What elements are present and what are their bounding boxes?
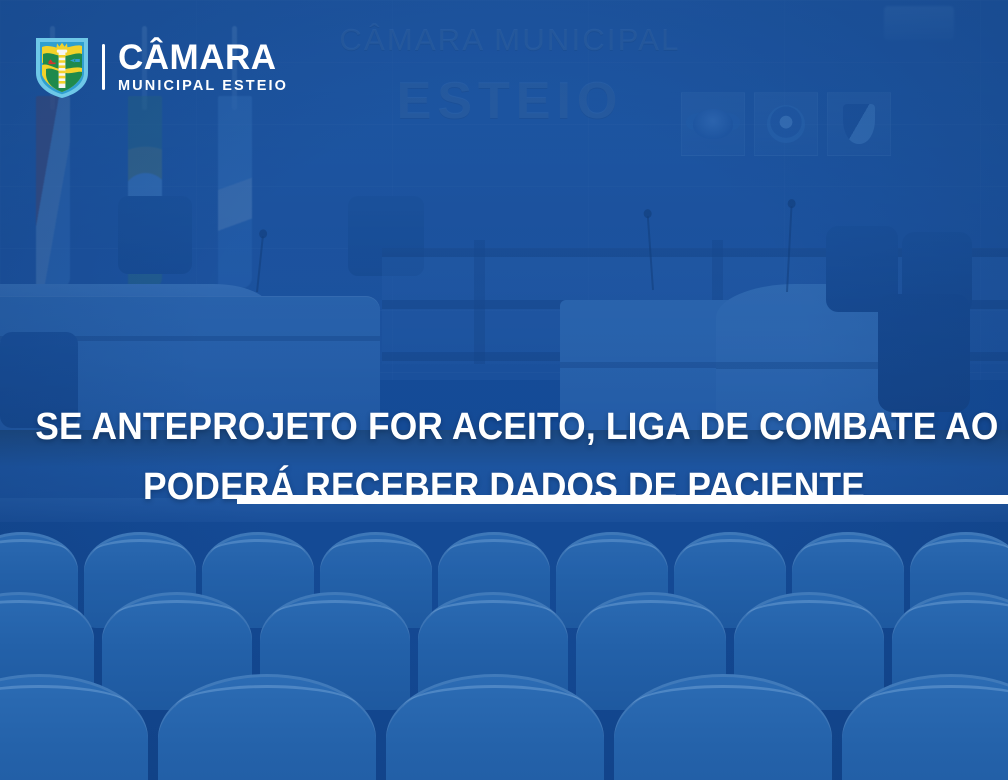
esteio-coat-of-arms-shield-icon [34, 35, 90, 99]
headline-line-2: PODERÁ RECEBER DADOS DE PACIENTE [35, 457, 972, 517]
news-banner: CÂMARA MUNICIPAL ESTEIO [0, 0, 1008, 780]
vertical-divider-icon [102, 44, 105, 90]
logo-primary-text: CÂMARA [118, 41, 288, 75]
headline-underline-rule [237, 495, 1008, 504]
headline-line-1: SE ANTEPROJETO FOR ACEITO, LIGA DE COMBA… [35, 397, 972, 457]
logo-secondary-text: MUNICIPAL ESTEIO [118, 79, 288, 94]
camara-logo[interactable]: CÂMARA MUNICIPAL ESTEIO [34, 32, 288, 102]
logo-wordmark: CÂMARA MUNICIPAL ESTEIO [118, 41, 288, 93]
